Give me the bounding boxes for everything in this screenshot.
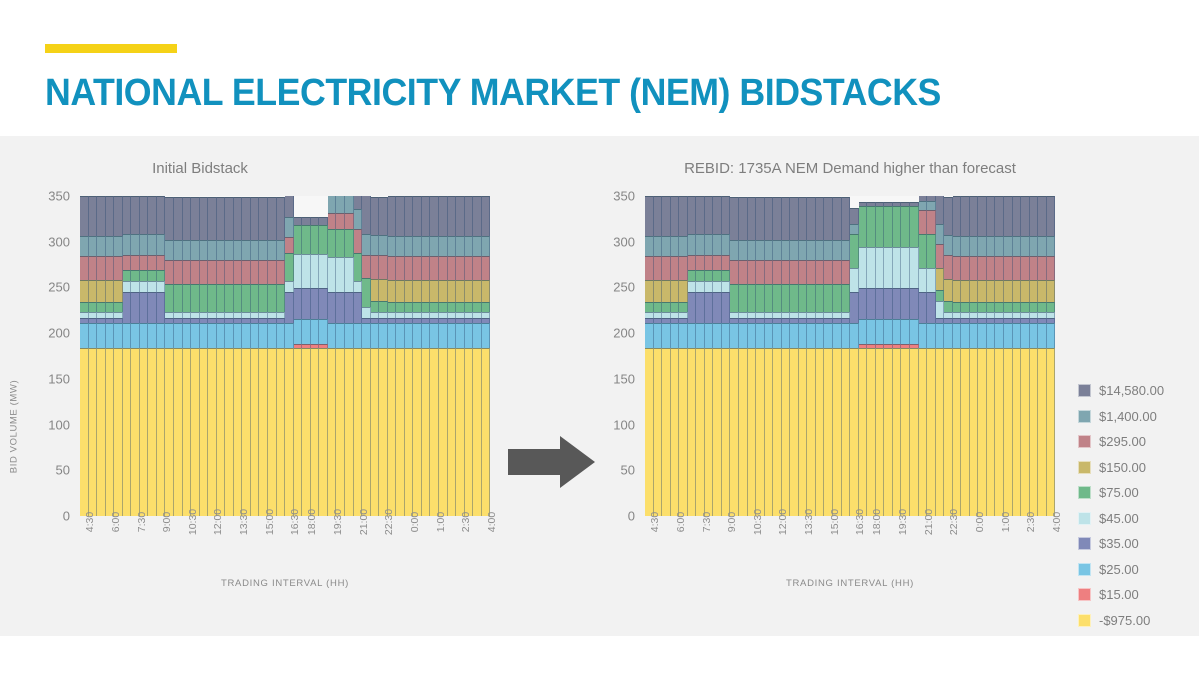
bar-segment xyxy=(901,344,910,348)
bar-segment xyxy=(816,197,825,240)
bar-segment xyxy=(200,284,209,312)
bar-segment xyxy=(174,240,183,260)
bar-segment xyxy=(799,197,808,240)
chart-rebid-bidstack: REBID: 1735A NEM Demand higher than fore… xyxy=(560,136,1080,636)
bar-segment xyxy=(131,348,140,516)
bar-segment xyxy=(405,236,414,256)
bar-segment xyxy=(1047,236,1055,256)
bar-segment xyxy=(867,288,876,319)
bar-segment xyxy=(970,236,979,256)
bar-segment xyxy=(1038,348,1047,516)
bar-segment xyxy=(936,323,945,348)
bar-segment xyxy=(850,234,859,269)
bar-segment xyxy=(859,202,868,206)
stacked-bar xyxy=(482,196,490,516)
bar-segment xyxy=(671,256,680,280)
bar-segment xyxy=(773,284,782,312)
bar-segment xyxy=(217,260,226,284)
bar-segment xyxy=(465,280,474,302)
bar-segment xyxy=(371,255,380,279)
bar-segment xyxy=(456,312,465,317)
bar-segment xyxy=(867,202,876,206)
bar-segment xyxy=(679,236,688,256)
bar-segment xyxy=(1013,348,1022,516)
stacked-bar xyxy=(782,196,791,516)
bar-segment xyxy=(919,348,928,516)
x-axis-label-initial: TRADING INTERVAL (HH) xyxy=(80,578,490,589)
bar-segment xyxy=(1030,323,1039,348)
bar-segment xyxy=(354,292,363,323)
bar-segment xyxy=(294,348,303,516)
bar-segment xyxy=(319,319,328,344)
bar-segment xyxy=(362,323,371,348)
bar-segment xyxy=(354,281,363,292)
bar-segment xyxy=(448,280,457,302)
stacked-bar xyxy=(311,196,320,516)
bar-segment xyxy=(671,348,680,516)
bar-segment xyxy=(654,348,663,516)
bar-segment xyxy=(953,323,962,348)
bar-segment xyxy=(328,213,337,229)
legend-item[interactable]: $150.00 xyxy=(1078,455,1193,481)
bar-segment xyxy=(919,234,928,269)
bar-segment xyxy=(319,225,328,253)
bar-segment xyxy=(456,302,465,312)
bar-segment xyxy=(405,312,414,317)
stacked-bar xyxy=(439,196,448,516)
bar-segment xyxy=(234,312,243,317)
bar-segment xyxy=(448,236,457,256)
bar-segment xyxy=(919,201,928,210)
bar-segment xyxy=(679,256,688,280)
legend-item[interactable]: $14,580.00 xyxy=(1078,378,1193,404)
bar-segment xyxy=(748,260,757,284)
stacked-bar xyxy=(833,196,842,516)
bar-segment xyxy=(1021,236,1030,256)
stacked-bar xyxy=(765,196,774,516)
bar-segment xyxy=(1030,348,1039,516)
stacked-bar xyxy=(285,196,294,516)
bar-segment xyxy=(157,348,166,516)
bar-segment xyxy=(671,318,680,323)
bar-segment xyxy=(388,196,397,236)
bar-segment xyxy=(482,312,490,317)
bar-segment xyxy=(1013,256,1022,280)
bar-segment xyxy=(662,323,671,348)
legend-item[interactable]: -$975.00 xyxy=(1078,608,1193,634)
x-tick-label: 4:00 xyxy=(1051,512,1063,532)
stacked-bar xyxy=(671,196,680,516)
bar-segment xyxy=(782,284,791,312)
bar-segment xyxy=(106,302,115,312)
bar-segment xyxy=(200,197,209,240)
bar-segment xyxy=(645,256,654,280)
bar-segment xyxy=(987,256,996,280)
bar-segment xyxy=(765,240,774,260)
stacked-bar xyxy=(388,196,397,516)
stacked-bar xyxy=(183,196,192,516)
bar-segment xyxy=(705,234,714,254)
y-tick-200: 200 xyxy=(613,326,635,341)
bar-segment xyxy=(953,318,962,323)
bar-segment xyxy=(465,323,474,348)
bar-segment xyxy=(876,247,885,288)
bar-segment xyxy=(106,348,115,516)
bar-segment xyxy=(473,236,482,256)
bar-segment xyxy=(790,323,799,348)
legend-item[interactable]: $295.00 xyxy=(1078,429,1193,455)
bar-segment xyxy=(285,348,294,516)
y-axis-label-initial: BID VOLUME (MW) xyxy=(9,347,20,507)
bar-segment xyxy=(405,323,414,348)
bar-segment xyxy=(654,302,663,312)
bar-segment xyxy=(876,206,885,247)
bar-segment xyxy=(362,234,371,254)
bar-segment xyxy=(995,256,1004,280)
bar-segment xyxy=(816,323,825,348)
bar-segment xyxy=(174,284,183,312)
bar-segment xyxy=(208,260,217,284)
bar-segment xyxy=(901,348,910,516)
bar-segment xyxy=(106,323,115,348)
bar-segment xyxy=(140,270,149,281)
bar-segment xyxy=(824,197,833,240)
bar-segment xyxy=(80,312,89,317)
bar-segment xyxy=(259,323,268,348)
bar-segment xyxy=(251,318,260,323)
bar-segment xyxy=(448,323,457,348)
bar-segment xyxy=(705,323,714,348)
bar-segment xyxy=(867,247,876,288)
bar-segment xyxy=(987,318,996,323)
bar-segment xyxy=(970,318,979,323)
bar-segment xyxy=(371,197,380,235)
bar-segment xyxy=(388,312,397,317)
bar-segment xyxy=(465,312,474,317)
bar-segment xyxy=(645,280,654,302)
bar-segment xyxy=(448,318,457,323)
bar-segment xyxy=(987,236,996,256)
bar-segment xyxy=(251,348,260,516)
bar-segment xyxy=(705,292,714,323)
bar-segment xyxy=(662,236,671,256)
bar-segment xyxy=(268,323,277,348)
bar-segment xyxy=(251,240,260,260)
bar-segment xyxy=(782,240,791,260)
bar-segment xyxy=(987,302,996,312)
stacked-bar xyxy=(319,196,328,516)
bar-segment xyxy=(936,290,945,301)
bar-segment xyxy=(123,348,132,516)
bar-segment xyxy=(302,225,311,253)
bar-segment xyxy=(482,196,490,236)
bar-segment xyxy=(439,318,448,323)
bar-segment xyxy=(884,247,893,288)
bar-segment xyxy=(773,260,782,284)
stacked-bar xyxy=(217,196,226,516)
stacked-bar xyxy=(396,196,405,516)
bar-segment xyxy=(371,301,380,312)
bar-segment xyxy=(722,270,731,281)
bar-segment xyxy=(302,217,311,225)
bar-segment xyxy=(748,312,757,317)
bar-segment xyxy=(294,254,303,289)
bar-segment xyxy=(106,280,115,302)
bar-segment xyxy=(970,348,979,516)
bar-segment xyxy=(80,323,89,348)
bar-segment xyxy=(242,240,251,260)
bar-segment xyxy=(713,196,722,234)
stacked-bar xyxy=(379,196,388,516)
bar-segment xyxy=(234,240,243,260)
bar-segment xyxy=(328,348,337,516)
bar-segment xyxy=(302,348,311,516)
bar-segment xyxy=(961,348,970,516)
bar-segment xyxy=(465,236,474,256)
bar-segment xyxy=(388,236,397,256)
bar-segment xyxy=(80,348,89,516)
bar-segment xyxy=(200,260,209,284)
stacked-bar xyxy=(106,196,115,516)
bar-segment xyxy=(396,323,405,348)
bar-segment xyxy=(748,348,757,516)
bar-segment xyxy=(919,292,928,323)
bar-segment xyxy=(371,318,380,323)
bar-segment xyxy=(285,292,294,323)
bar-segment xyxy=(842,323,851,348)
bar-segment xyxy=(183,348,192,516)
bar-segment xyxy=(371,348,380,516)
stacked-bar xyxy=(140,196,149,516)
bar-segment xyxy=(191,348,200,516)
bar-segment xyxy=(884,206,893,247)
bar-segment xyxy=(713,281,722,292)
bar-segment xyxy=(89,348,98,516)
bar-segment xyxy=(396,280,405,302)
bar-segment xyxy=(396,236,405,256)
bar-segment xyxy=(114,348,123,516)
stacked-bar xyxy=(842,196,851,516)
bar-segment xyxy=(782,260,791,284)
bar-segment xyxy=(978,312,987,317)
bar-segment xyxy=(901,247,910,288)
bar-segment xyxy=(859,288,868,319)
bar-segment xyxy=(430,323,439,348)
bar-segment xyxy=(824,318,833,323)
bar-segment xyxy=(970,302,979,312)
bar-segment xyxy=(807,318,816,323)
legend-item[interactable]: $15.00 xyxy=(1078,582,1193,608)
bar-segment xyxy=(1021,302,1030,312)
bar-segment xyxy=(1038,302,1047,312)
bar-segment xyxy=(294,288,303,319)
bar-segment xyxy=(901,319,910,344)
bar-segment xyxy=(234,260,243,284)
stacked-bar xyxy=(148,196,157,516)
bar-segment xyxy=(114,323,123,348)
bar-segment xyxy=(379,312,388,317)
bar-segment xyxy=(884,344,893,348)
bar-segment xyxy=(824,240,833,260)
bar-segment xyxy=(148,196,157,234)
bar-segment xyxy=(927,210,936,234)
bar-segment xyxy=(1004,302,1013,312)
bar-segment xyxy=(1013,302,1022,312)
stacked-bar xyxy=(876,196,885,516)
bar-segment xyxy=(679,196,688,236)
legend-item[interactable]: $1,400.00 xyxy=(1078,404,1193,430)
bar-segment xyxy=(430,236,439,256)
stacked-bar xyxy=(688,196,697,516)
bar-segment xyxy=(782,323,791,348)
bar-segment xyxy=(345,213,354,229)
bar-segment xyxy=(439,280,448,302)
y-tick-300: 300 xyxy=(613,234,635,249)
bar-segment xyxy=(961,312,970,317)
bar-segment xyxy=(884,348,893,516)
bar-segment xyxy=(765,284,774,312)
bar-segment xyxy=(893,348,902,516)
bar-segment xyxy=(867,206,876,247)
bar-segment xyxy=(183,284,192,312)
bar-segment xyxy=(893,206,902,247)
bar-segment xyxy=(654,236,663,256)
bar-segment xyxy=(362,307,371,318)
legend-item[interactable]: $25.00 xyxy=(1078,557,1193,583)
bar-segment xyxy=(645,323,654,348)
bar-segment xyxy=(859,344,868,348)
bar-segment xyxy=(97,302,106,312)
bar-segment xyxy=(405,348,414,516)
bar-segment xyxy=(936,268,945,290)
bar-segment xyxy=(89,323,98,348)
bar-segment xyxy=(131,196,140,234)
chart-initial-bidstack: Initial Bidstack BID VOLUME (MW) 3503002… xyxy=(0,136,520,636)
bar-segment xyxy=(688,292,697,323)
bar-segment xyxy=(148,292,157,323)
y-tick-100: 100 xyxy=(613,417,635,432)
bar-segment xyxy=(114,280,123,302)
bar-segment xyxy=(157,292,166,323)
bar-segment xyxy=(217,240,226,260)
bar-segment xyxy=(953,348,962,516)
bar-segment xyxy=(174,312,183,317)
bar-segment xyxy=(842,197,851,240)
stacked-bar xyxy=(114,196,123,516)
bar-segment xyxy=(927,348,936,516)
legend-item[interactable]: $75.00 xyxy=(1078,480,1193,506)
bar-segment xyxy=(140,348,149,516)
stacked-bar xyxy=(756,196,765,516)
stacked-bar xyxy=(1021,196,1030,516)
bar-segment xyxy=(208,240,217,260)
stacked-bar xyxy=(953,196,962,516)
bar-segment xyxy=(268,284,277,312)
stacked-bar xyxy=(654,196,663,516)
bar-segment xyxy=(268,197,277,240)
bar-segment xyxy=(106,318,115,323)
bar-segment xyxy=(379,318,388,323)
bar-segment xyxy=(345,196,354,213)
legend-item[interactable]: $35.00 xyxy=(1078,531,1193,557)
bar-segment xyxy=(482,256,490,280)
stacked-bar xyxy=(174,196,183,516)
bar-segment xyxy=(773,197,782,240)
bar-segment xyxy=(919,210,928,234)
bar-segment xyxy=(405,280,414,302)
bar-segment xyxy=(790,312,799,317)
bar-segment xyxy=(850,268,859,292)
stacked-bar xyxy=(191,196,200,516)
bar-segment xyxy=(277,348,286,516)
bar-segment xyxy=(285,323,294,348)
bar-segment xyxy=(208,318,217,323)
bar-segment xyxy=(183,197,192,240)
bar-segment xyxy=(739,284,748,312)
y-tick-350: 350 xyxy=(613,189,635,204)
bar-segment xyxy=(354,348,363,516)
bar-segment xyxy=(439,348,448,516)
bar-segment xyxy=(756,312,765,317)
bar-segment xyxy=(730,260,739,284)
bar-segment xyxy=(259,197,268,240)
legend-swatch-icon xyxy=(1078,486,1091,499)
bar-segment xyxy=(157,255,166,271)
bar-segment xyxy=(910,348,919,516)
bar-segment xyxy=(833,348,842,516)
bar-segment xyxy=(242,284,251,312)
bar-segment xyxy=(251,312,260,317)
bar-segment xyxy=(430,312,439,317)
stacked-bar xyxy=(123,196,132,516)
chart-title-initial: Initial Bidstack xyxy=(0,160,460,177)
legend-label: $15.00 xyxy=(1099,587,1139,602)
bar-segment xyxy=(328,292,337,323)
bar-segment xyxy=(987,196,996,236)
stacked-bar xyxy=(1004,196,1013,516)
bar-segment xyxy=(1013,312,1022,317)
y-tick-100: 100 xyxy=(48,417,70,432)
bar-segment xyxy=(396,312,405,317)
bar-segment xyxy=(439,323,448,348)
content-panel: Initial Bidstack BID VOLUME (MW) 3503002… xyxy=(0,136,1199,636)
bar-segment xyxy=(807,240,816,260)
bar-segment xyxy=(756,240,765,260)
legend-label: $75.00 xyxy=(1099,485,1139,500)
bar-segment xyxy=(97,323,106,348)
bar-segment xyxy=(371,312,380,317)
bar-segment xyxy=(1021,318,1030,323)
bar-segment xyxy=(336,229,345,257)
bar-segment xyxy=(114,196,123,236)
bar-segment xyxy=(225,312,234,317)
bar-segment xyxy=(953,196,962,236)
bar-segment xyxy=(944,255,953,279)
bar-segment xyxy=(131,323,140,348)
bar-segment xyxy=(430,280,439,302)
stacked-bar xyxy=(790,196,799,516)
bar-segment xyxy=(277,197,286,240)
bar-segment xyxy=(765,318,774,323)
legend-swatch-icon xyxy=(1078,435,1091,448)
legend-item[interactable]: $45.00 xyxy=(1078,506,1193,532)
bar-segment xyxy=(1013,236,1022,256)
bar-segment xyxy=(961,302,970,312)
bar-segment xyxy=(482,323,490,348)
bar-segment xyxy=(705,196,714,234)
bar-segment xyxy=(662,256,671,280)
bar-segment xyxy=(807,284,816,312)
